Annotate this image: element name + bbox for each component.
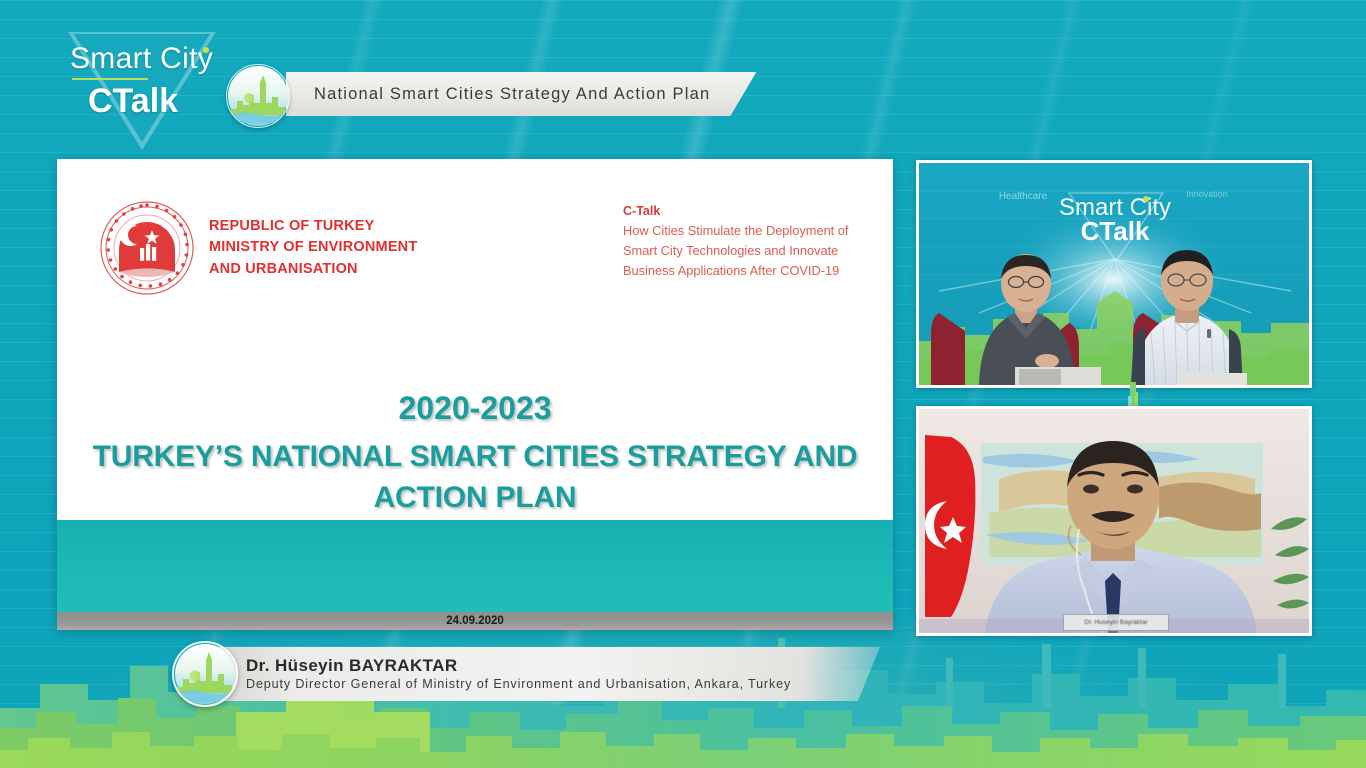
city-skyline-badge-icon (226, 64, 290, 128)
ctalk-topic-block: C-Talk How Cities Stimulate the Deployme… (623, 204, 885, 280)
header-banner-plate: National Smart Cities Strategy And Actio… (286, 72, 756, 116)
guest-video-nametag-text: Dr. Huseyin Bayraktar (1084, 619, 1147, 626)
tile-connector-tower-icon (1122, 382, 1144, 407)
logo-line-2: CTalk (88, 82, 178, 121)
ministry-line-2: MINISTRY OF ENVIRONMENT (209, 237, 417, 258)
webinar-stream-screen: Smart City CTalk National Smart Cities S… (0, 0, 1366, 768)
speaker-role: Deputy Director General of Ministry of E… (246, 676, 846, 692)
logo-underline (72, 78, 148, 80)
svg-text:Healthcare: Healthcare (999, 191, 1048, 202)
ctalk-heading: C-Talk (623, 204, 885, 218)
logo-i-dot-icon (203, 47, 209, 53)
smart-city-ctalk-logo: Smart City CTalk (60, 22, 240, 142)
ctalk-line-3: Business Applications After COVID-19 (623, 261, 885, 281)
video-tile-hosts[interactable]: Smart City CTalk Healthcare Innovation (916, 160, 1312, 388)
city-skyline-badge-icon (172, 641, 238, 707)
slide-title-main-line-2: ACTION PLAN (57, 478, 893, 519)
ministry-line-3: AND URBANISATION (209, 259, 417, 280)
slide-footer-date: 24.09.2020 (446, 615, 504, 627)
slide-title-main-line-1: TURKEY’S NATIONAL SMART CITIES STRATEGY … (57, 437, 893, 478)
ministry-identity-block: REPUBLIC OF TURKEY MINISTRY OF ENVIRONME… (99, 200, 417, 296)
speaker-name: Dr. Hüseyin BAYRAKTAR (246, 656, 846, 676)
svg-text:Innovation: Innovation (1186, 189, 1228, 199)
ctalk-line-1: How Cities Stimulate the Deployment of (623, 221, 885, 241)
ministry-text-block: REPUBLIC OF TURKEY MINISTRY OF ENVIRONME… (209, 216, 417, 280)
turkey-ministry-seal-icon (99, 200, 195, 296)
lower-third-plate: Dr. Hüseyin BAYRAKTAR Deputy Director Ge… (218, 647, 880, 701)
video-tile-guest[interactable] (916, 406, 1312, 636)
slide-title-years: 2020-2023 (57, 390, 893, 427)
ctalk-line-2: Smart City Technologies and Innovate (623, 241, 885, 261)
slide-teal-band (57, 520, 893, 612)
guest-video-nametag: Dr. Huseyin Bayraktar (1063, 614, 1169, 631)
logo-line-1: Smart City (70, 42, 213, 76)
svg-text:CTalk: CTalk (1081, 216, 1150, 246)
presentation-slide: REPUBLIC OF TURKEY MINISTRY OF ENVIRONME… (57, 159, 893, 630)
header-banner-text: National Smart Cities Strategy And Actio… (314, 85, 710, 104)
slide-footer-bar: 24.09.2020 (57, 612, 893, 630)
ministry-line-1: REPUBLIC OF TURKEY (209, 216, 417, 237)
slide-title-block: 2020-2023 TURKEY’S NATIONAL SMART CITIES… (57, 390, 893, 518)
